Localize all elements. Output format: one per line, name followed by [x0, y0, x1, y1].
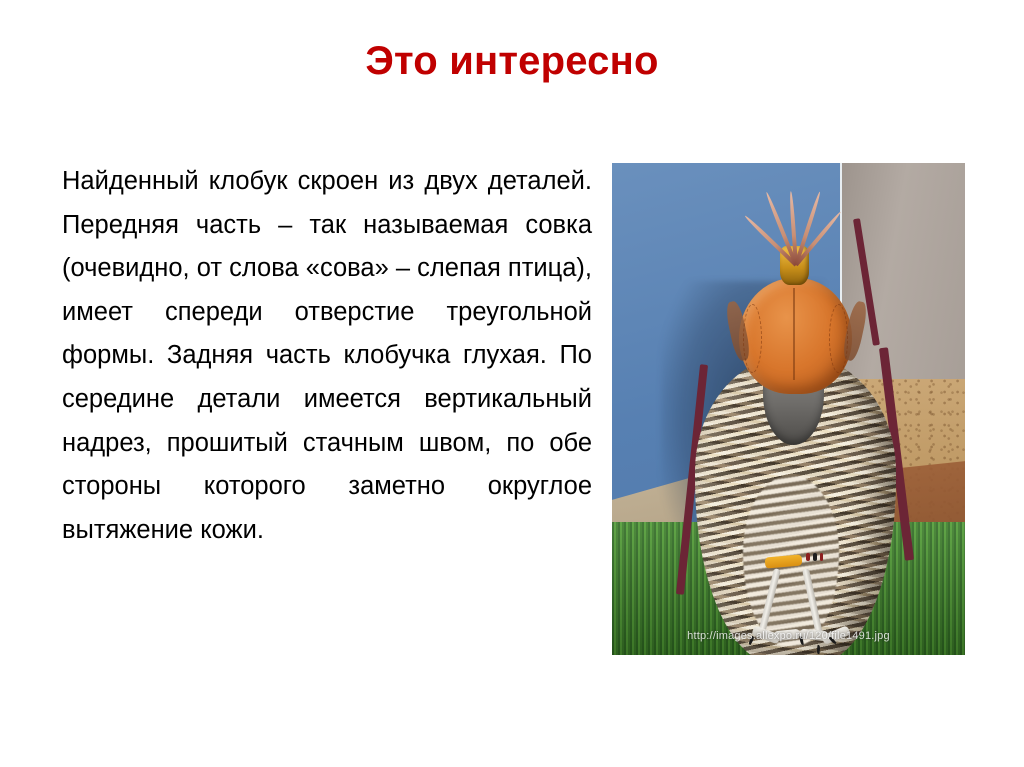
- band-chip: [806, 553, 810, 561]
- hood-stitching-left: [743, 304, 762, 373]
- slide-canvas: Это интересно Найденный клобук скроен из…: [0, 0, 1024, 767]
- hood-center-seam: [793, 288, 795, 380]
- hood-stitching-right: [829, 304, 848, 373]
- falcon-photo: http://images.allexpo.ru/120/file1491.jp…: [612, 163, 965, 655]
- plume-feather: [744, 215, 798, 267]
- plume-feather: [794, 192, 822, 266]
- falconry-hood: [739, 278, 853, 394]
- page-title: Это интересно: [0, 38, 1024, 84]
- band-chip: [820, 553, 824, 561]
- body-text-block: Найденный клобук скроен из двух деталей.…: [62, 160, 592, 552]
- photo-content: http://images.allexpo.ru/120/file1491.jp…: [612, 163, 965, 655]
- band-chip: [813, 553, 817, 561]
- body-paragraph: Найденный клобук скроен из двух деталей.…: [62, 160, 592, 552]
- falcon: [686, 227, 905, 655]
- hood-feather-plume: [752, 188, 844, 265]
